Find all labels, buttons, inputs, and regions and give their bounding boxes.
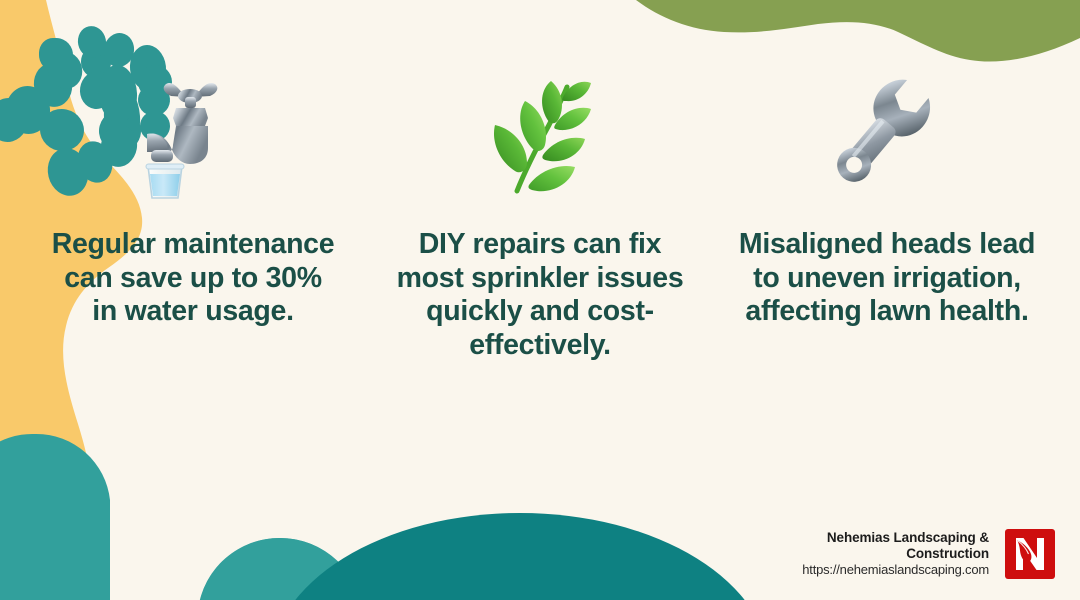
logo-n-mark: [1007, 531, 1053, 577]
column-misaligned-heads: Misaligned heads lead to uneven irrigati…: [722, 70, 1052, 329]
column-text-water: Regular maintenance can save up to 30% i…: [28, 228, 358, 329]
brand-name: Nehemias Landscaping & Construction: [784, 530, 989, 560]
column-water-maintenance: Regular maintenance can save up to 30% i…: [28, 70, 358, 329]
column-text-misaligned: Misaligned heads lead to uneven irrigati…: [722, 228, 1052, 329]
potable-water-faucet-icon: [138, 70, 248, 200]
content-columns: Regular maintenance can save up to 30% i…: [0, 70, 1080, 363]
nehemias-logo[interactable]: [1002, 526, 1058, 582]
brand-url[interactable]: https://nehemiaslandscaping.com: [802, 563, 989, 578]
poster-canvas: Regular maintenance can save up to 30% i…: [0, 0, 1080, 600]
footer-text-block: Nehemias Landscaping & Construction http…: [784, 530, 989, 577]
logo-red-square: [1005, 529, 1055, 579]
herb-leaves-icon: [481, 70, 599, 200]
footer-branding[interactable]: Nehemias Landscaping & Construction http…: [784, 526, 1058, 582]
column-diy-repairs: DIY repairs can fix most sprinkler issue…: [375, 70, 705, 363]
wrench-icon: [825, 70, 950, 200]
column-text-diy: DIY repairs can fix most sprinkler issue…: [375, 228, 705, 363]
